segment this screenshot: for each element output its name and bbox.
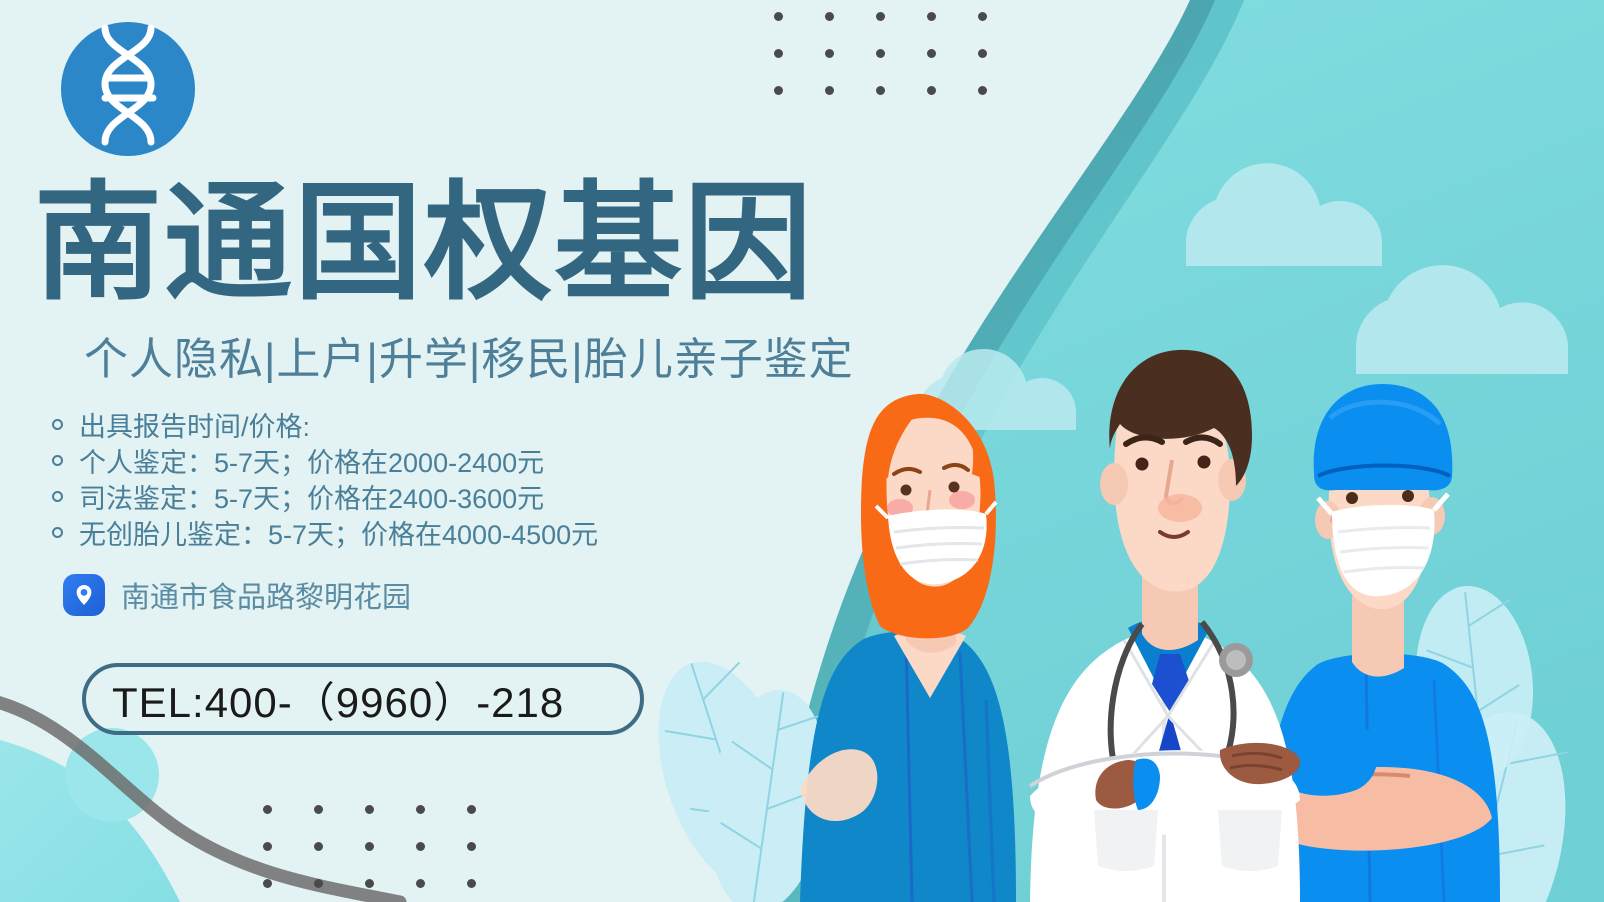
dot	[467, 879, 476, 888]
bullet-circle-icon	[52, 419, 63, 430]
dot	[927, 12, 936, 21]
dot-grid-bottom	[263, 805, 476, 888]
dot	[467, 805, 476, 814]
dot	[825, 86, 834, 95]
dot	[416, 879, 425, 888]
page-subtitle: 个人隐私|上户|升学|移民|胎儿亲子鉴定	[84, 334, 854, 387]
bullet-circle-icon	[52, 527, 63, 538]
dot	[876, 86, 885, 95]
dot	[314, 842, 323, 851]
dot	[978, 49, 987, 58]
dna-helix-icon	[61, 22, 195, 156]
dot	[876, 12, 885, 21]
dot	[314, 879, 323, 888]
address-row: 南通市食品路黎明花园	[63, 574, 411, 616]
dot-grid-top	[774, 12, 987, 95]
dot	[876, 49, 885, 58]
list-item: 无创胎儿鉴定：5-7天；价格在4000-4500元	[52, 514, 598, 550]
dot	[927, 86, 936, 95]
dot	[774, 86, 783, 95]
dot	[263, 805, 272, 814]
dot	[774, 49, 783, 58]
dot	[825, 12, 834, 21]
promo-banner: 南通国权基因 个人隐私|上户|升学|移民|胎儿亲子鉴定 出具报告时间/价格: 个…	[0, 0, 1604, 902]
location-pin-icon	[63, 574, 105, 616]
list-item-label: 出具报告时间/价格:	[79, 405, 310, 444]
page-title: 南通国权基因	[34, 176, 814, 310]
list-item: 司法鉴定：5-7天；价格在2400-3600元	[52, 478, 598, 514]
dot	[365, 879, 374, 888]
service-list: 出具报告时间/价格: 个人鉴定：5-7天；价格在2000-2400元 司法鉴定：…	[52, 406, 598, 550]
dot	[365, 805, 374, 814]
dot	[314, 805, 323, 814]
dot	[263, 842, 272, 851]
dot	[927, 49, 936, 58]
list-item: 个人鉴定：5-7天；价格在2000-2400元	[52, 442, 598, 478]
dot	[978, 86, 987, 95]
bullet-circle-icon	[52, 455, 63, 466]
dot	[467, 842, 476, 851]
dot	[416, 805, 425, 814]
bullet-circle-icon	[52, 491, 63, 502]
list-item-label: 司法鉴定：5-7天；价格在2400-3600元	[79, 477, 544, 516]
list-item: 出具报告时间/价格:	[52, 406, 598, 442]
dot	[365, 842, 374, 851]
list-item-label: 个人鉴定：5-7天；价格在2000-2400元	[79, 441, 544, 480]
dot	[263, 879, 272, 888]
address-label: 南通市食品路黎明花园	[121, 574, 411, 616]
dot	[774, 12, 783, 21]
list-item-label: 无创胎儿鉴定：5-7天；价格在4000-4500元	[79, 513, 598, 552]
dot	[416, 842, 425, 851]
dot	[825, 49, 834, 58]
dot	[978, 12, 987, 21]
phone-badge[interactable]: TEL:400-（9960）-218	[82, 663, 644, 735]
phone-number: TEL:400-（9960）-218	[112, 669, 564, 730]
